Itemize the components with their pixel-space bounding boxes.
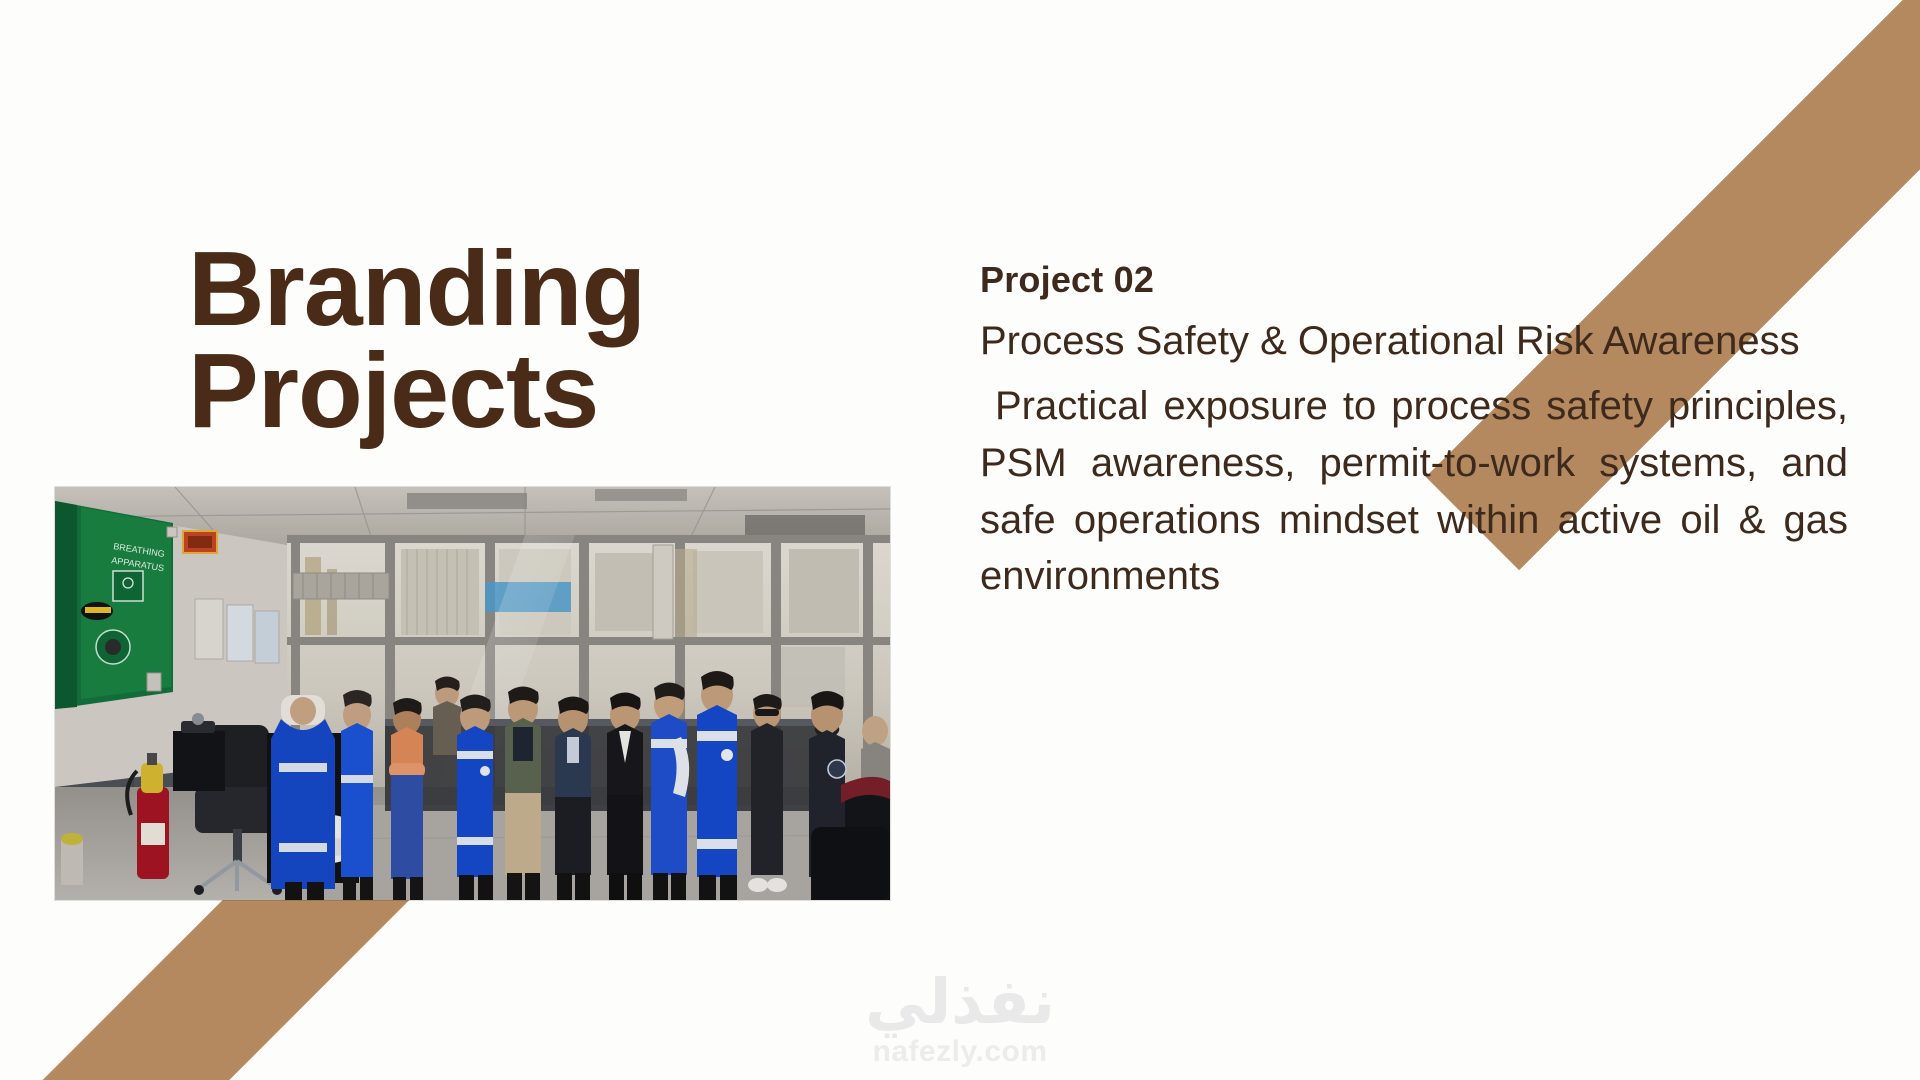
project-description: Practical exposure to process safety pri… bbox=[980, 378, 1848, 605]
slide-canvas: Branding Projects bbox=[0, 0, 1920, 1080]
project-text-column: Project 02 Process Safety & Operational … bbox=[980, 258, 1848, 605]
project-photo: BREATHING APPARATUS bbox=[55, 487, 890, 900]
watermark-latin-text: nafezly.com bbox=[0, 1035, 1920, 1068]
project-photo-illustration: BREATHING APPARATUS bbox=[55, 487, 890, 900]
watermark: نفذلي nafezly.com bbox=[0, 970, 1920, 1068]
project-label: Project 02 bbox=[980, 258, 1848, 301]
page-title: Branding Projects bbox=[188, 239, 828, 443]
watermark-arabic-text: نفذلي bbox=[0, 970, 1920, 1035]
project-title: Process Safety & Operational Risk Awaren… bbox=[980, 313, 1848, 370]
